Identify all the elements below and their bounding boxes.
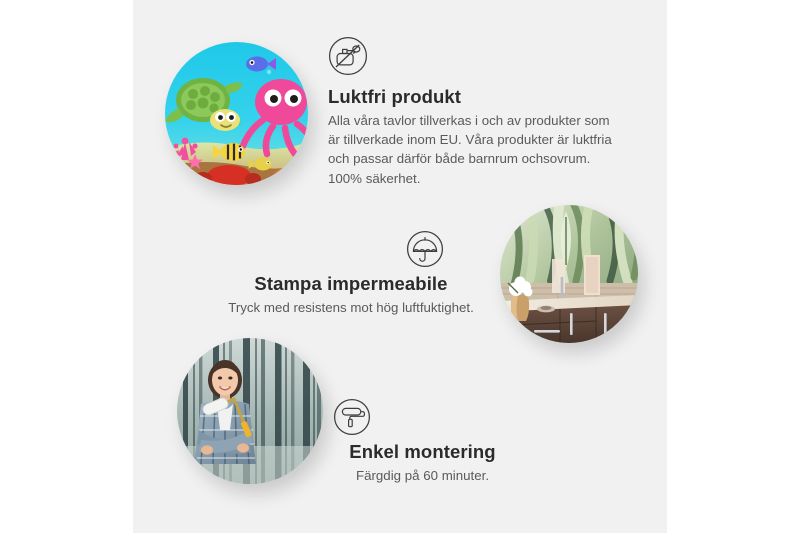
umbrella-icon xyxy=(406,230,444,268)
feature-description: Tryck med resistens mot hög luftfuktighe… xyxy=(205,298,497,317)
feature-icon-wrap xyxy=(205,230,497,268)
feature-description: Färgdig på 60 minuter. xyxy=(300,466,545,485)
feature-stampa-impermeabile: Stampa impermeabile Tryck med resistens … xyxy=(205,230,497,317)
feature-title: Luktfri produkt xyxy=(328,85,628,108)
product-feature-panel: Luktfri produkt Alla våra tavlor tillver… xyxy=(0,0,800,533)
feature-title: Enkel montering xyxy=(300,440,545,463)
feature-description: Alla våra tavlor tillverkas i och av pro… xyxy=(328,111,620,188)
photo-bathroom-wallpaper[interactable] xyxy=(500,205,638,343)
feature-title: Stampa impermeabile xyxy=(205,272,497,295)
photo-underwater-scene[interactable] xyxy=(165,42,308,185)
feature-luktfri-produkt: Luktfri produkt Alla våra tavlor tillver… xyxy=(328,36,628,188)
feature-icon-wrap xyxy=(328,36,628,76)
feature-icon-wrap xyxy=(300,398,545,436)
paint-roller-icon xyxy=(333,398,371,436)
no-fragrance-icon xyxy=(328,36,628,76)
feature-enkel-montering: Enkel montering Färgdig på 60 minuter. xyxy=(300,398,545,485)
